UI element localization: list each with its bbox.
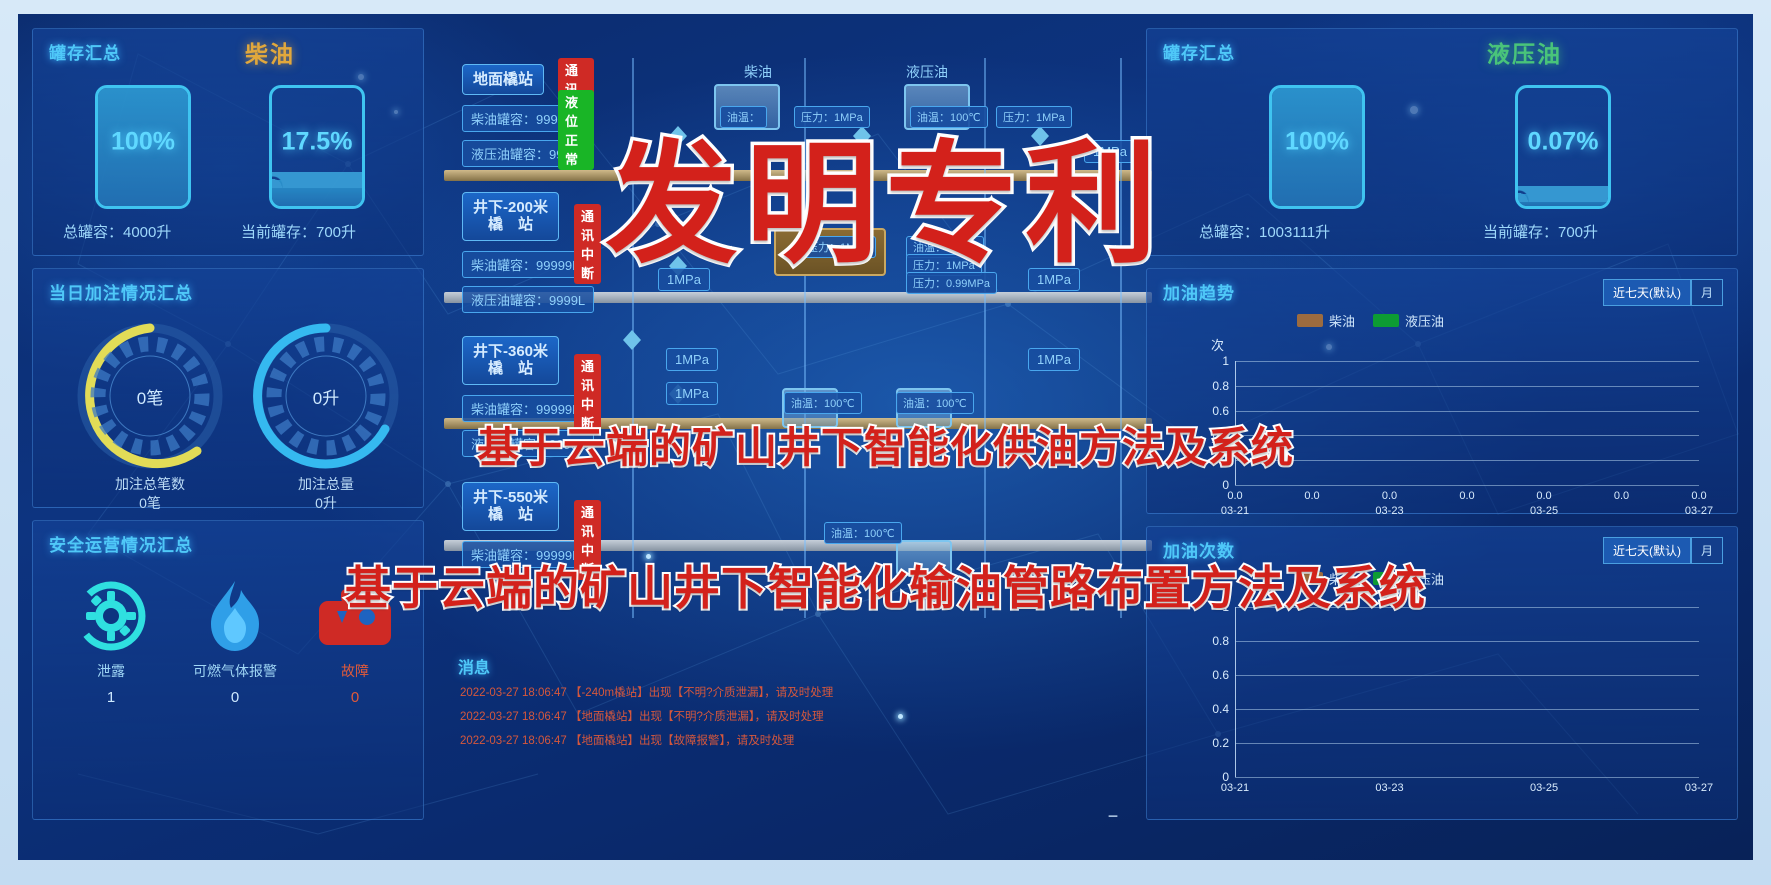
count-range-buttons[interactable]: 近七天(默认) 月: [1603, 537, 1723, 564]
y-tick: 1: [1222, 354, 1229, 368]
x-tick-value: 0.0: [1614, 490, 1629, 502]
safety-label: 可燃气体报警: [175, 661, 295, 681]
gauge-refuel-volume: 0升: [251, 321, 401, 471]
pressure-tag: 1MPa: [666, 348, 718, 371]
panel-right-stock-summary: 罐存汇总 液压油 100% 0.07% 总罐容：1003111升 当前罐存：70…: [1146, 28, 1738, 256]
safety-item-leak[interactable]: 泄露 1: [51, 577, 171, 706]
gauge-value: 0升: [251, 321, 401, 471]
chart-y-axis: [1235, 607, 1236, 777]
tank-hydraulic-total: 100%: [1269, 85, 1365, 209]
trend-legend: 柴油 液压油: [1297, 311, 1444, 330]
station-name: 井下-360米 橇 站: [462, 336, 559, 385]
count-button-seven-days[interactable]: 近七天(默认): [1603, 537, 1691, 564]
safety-count: 0: [295, 689, 415, 706]
tank-fill: [272, 180, 362, 206]
dashboard-screenshot: 罐存汇总 柴油 100% 17.5% 总罐容：4000升 当前罐存：700升 当…: [0, 0, 1771, 885]
message-row: 2022-03-27 18:06:47 【地面橇站】出现【不明?介质泄漏】，请及…: [460, 708, 824, 724]
minus-icon[interactable]: −: [1102, 806, 1124, 828]
x-tick-value: 0.0: [1304, 490, 1319, 502]
trend-button-seven-days[interactable]: 近七天(默认): [1603, 279, 1691, 306]
station-name: 地面橇站: [462, 64, 544, 95]
y-tick: 0.8: [1212, 634, 1229, 648]
label-hydraulic-branch: 液压油: [906, 62, 948, 82]
tank-fill: [1518, 194, 1608, 206]
safety-count: 0: [175, 689, 295, 706]
tank-percent-label: 17.5%: [272, 128, 362, 157]
panel-subtitle-diesel: 柴油: [245, 35, 295, 69]
pressure-tag: 1MPa: [666, 382, 718, 405]
watermark-patent-title: 发明专利: [606, 98, 1166, 289]
y-tick: 0.4: [1212, 702, 1229, 716]
x-tick-date: 03-23: [1375, 505, 1403, 517]
station-name: 井下-200米 橇 站: [462, 192, 559, 241]
gauge-value: 0笔: [75, 321, 225, 471]
legend-swatch: [1297, 314, 1323, 327]
safety-count: 1: [51, 689, 171, 706]
panel-daily-refuel-summary: 当日加注情况汇总 0笔 加注总笔数 0笔: [32, 268, 424, 508]
y-tick: 0.2: [1212, 736, 1229, 750]
label-diesel-branch: 柴油: [744, 62, 772, 82]
message-row: 2022-03-27 18:06:47 【地面橇站】出现【故障报警】，请及时处理: [460, 732, 794, 748]
tank-percent-label: 100%: [98, 128, 188, 157]
chart-count-plot: 1 0.8 0.6 0.4 0.2 0 03-21 03-23 03-25 03…: [1235, 607, 1699, 777]
x-tick-date: 03-23: [1375, 782, 1403, 794]
tag-hydraulic-capacity: 液压油罐容：9999L: [462, 286, 594, 313]
readout-oil-temp: 油温：100℃: [784, 392, 862, 414]
chart-y-axis-label: 次: [1211, 335, 1224, 354]
safety-item-gas-alarm[interactable]: 可燃气体报警 0: [175, 577, 295, 706]
readout-oil-temp: 油温：100℃: [824, 522, 902, 544]
x-tick-value: 0.0: [1691, 490, 1706, 502]
x-tick-value: 0.0: [1536, 490, 1551, 502]
panel-subtitle-hydraulic: 液压油: [1487, 35, 1562, 69]
y-tick: 0.8: [1212, 379, 1229, 393]
dashboard-board: 罐存汇总 柴油 100% 17.5% 总罐容：4000升 当前罐存：700升 当…: [18, 14, 1753, 860]
tank-diesel-total: 100%: [95, 85, 191, 209]
status-badge-comm: 通讯中断: [574, 204, 601, 284]
watermark-line-two: 基于云端的矿山井下智能化输油管路布置方法及系统: [345, 552, 1426, 618]
x-tick-date: 03-25: [1530, 782, 1558, 794]
gauge2-label: 加注总量: [298, 476, 354, 492]
safety-label: 故障: [295, 661, 415, 681]
x-tick-date: 03-27: [1685, 782, 1713, 794]
tag-diesel-capacity: 柴油罐容：99999L: [462, 251, 588, 278]
tank-percent-label: 100%: [1272, 128, 1362, 157]
x-tick-value: 0.0: [1382, 490, 1397, 502]
gauge-refuel-count: 0笔: [75, 321, 225, 471]
label-total-capacity: 总罐容：1003111升: [1199, 221, 1330, 242]
panel-title-stock-left: 罐存汇总: [49, 39, 121, 64]
panel-refuel-trend: 加油趋势 近七天(默认) 月 柴油 液压油 次: [1146, 268, 1738, 514]
y-tick: 0.6: [1212, 668, 1229, 682]
x-tick-date: 03-25: [1530, 505, 1558, 517]
tank-percent-label: 0.07%: [1518, 128, 1608, 157]
gauge1-sub: 0笔: [139, 495, 161, 511]
safety-label: 泄露: [51, 661, 171, 681]
flame-icon: [175, 577, 295, 655]
x-tick-value: 0.0: [1459, 490, 1474, 502]
x-tick-value: 0.0: [1227, 490, 1242, 502]
message-row: 2022-03-27 18:06:47 【-240m橇站】出现【不明?介质泄漏】…: [460, 684, 833, 700]
pressure-tag: 1MPa: [1028, 348, 1080, 371]
panel-title-messages: 消息: [458, 654, 490, 678]
panel-title-safety: 安全运营情况汇总: [49, 531, 193, 556]
label-current-stock: 当前罐存：700升: [1483, 221, 1598, 242]
legend-item-hydraulic: 液压油: [1373, 311, 1444, 330]
gauge2-sub: 0升: [315, 495, 337, 511]
legend-label: 柴油: [1329, 311, 1355, 330]
x-tick-date: 03-27: [1685, 505, 1713, 517]
trend-range-buttons[interactable]: 近七天(默认) 月: [1603, 279, 1723, 306]
station-surface[interactable]: 地面橇站 通讯中断 液位正常 柴油罐容：99999L 液压油罐容：9999L: [462, 64, 594, 167]
legend-label: 液压油: [1405, 311, 1444, 330]
count-button-month[interactable]: 月: [1691, 537, 1723, 564]
station-name: 井下-550米 橇 站: [462, 482, 559, 531]
trend-button-month[interactable]: 月: [1691, 279, 1723, 306]
readout-oil-temp: 油温：100℃: [896, 392, 974, 414]
panel-title-refuel: 当日加注情况汇总: [49, 279, 193, 304]
x-tick-date: 03-21: [1221, 505, 1249, 517]
x-tick-date: 03-21: [1221, 782, 1249, 794]
panel-messages: 消息 2022-03-27 18:06:47 【-240m橇站】出现【不明?介质…: [444, 646, 1152, 846]
status-badge-level: 液位正常: [558, 90, 594, 170]
tank-hydraulic-current: 0.07%: [1515, 85, 1611, 209]
panel-title-stock-right: 罐存汇总: [1163, 39, 1235, 64]
watermark-line-one: 基于云端的矿山井下智能化供油方法及系统: [477, 414, 1294, 475]
panel-title-trend: 加油趋势: [1163, 279, 1235, 304]
panel-left-stock-summary: 罐存汇总 柴油 100% 17.5% 总罐容：4000升 当前罐存：700升: [32, 28, 424, 256]
legend-item-diesel: 柴油: [1297, 311, 1355, 330]
chart-trend-plot: 1 0.8 0.6 0.4 0.2 0 0.0 0.0 0.0 0.0 0.0 …: [1235, 361, 1699, 485]
label-total-capacity: 总罐容：4000升: [63, 221, 171, 242]
legend-swatch: [1373, 314, 1399, 327]
tank-diesel-current: 17.5%: [269, 85, 365, 209]
label-current-stock: 当前罐存：700升: [241, 221, 356, 242]
gauge1-label: 加注总笔数: [115, 476, 185, 492]
station-minus-200[interactable]: 井下-200米 橇 站 通讯中断 柴油罐容：99999L 液压油罐容：9999L: [462, 192, 594, 313]
gear-leak-icon: [51, 577, 171, 655]
